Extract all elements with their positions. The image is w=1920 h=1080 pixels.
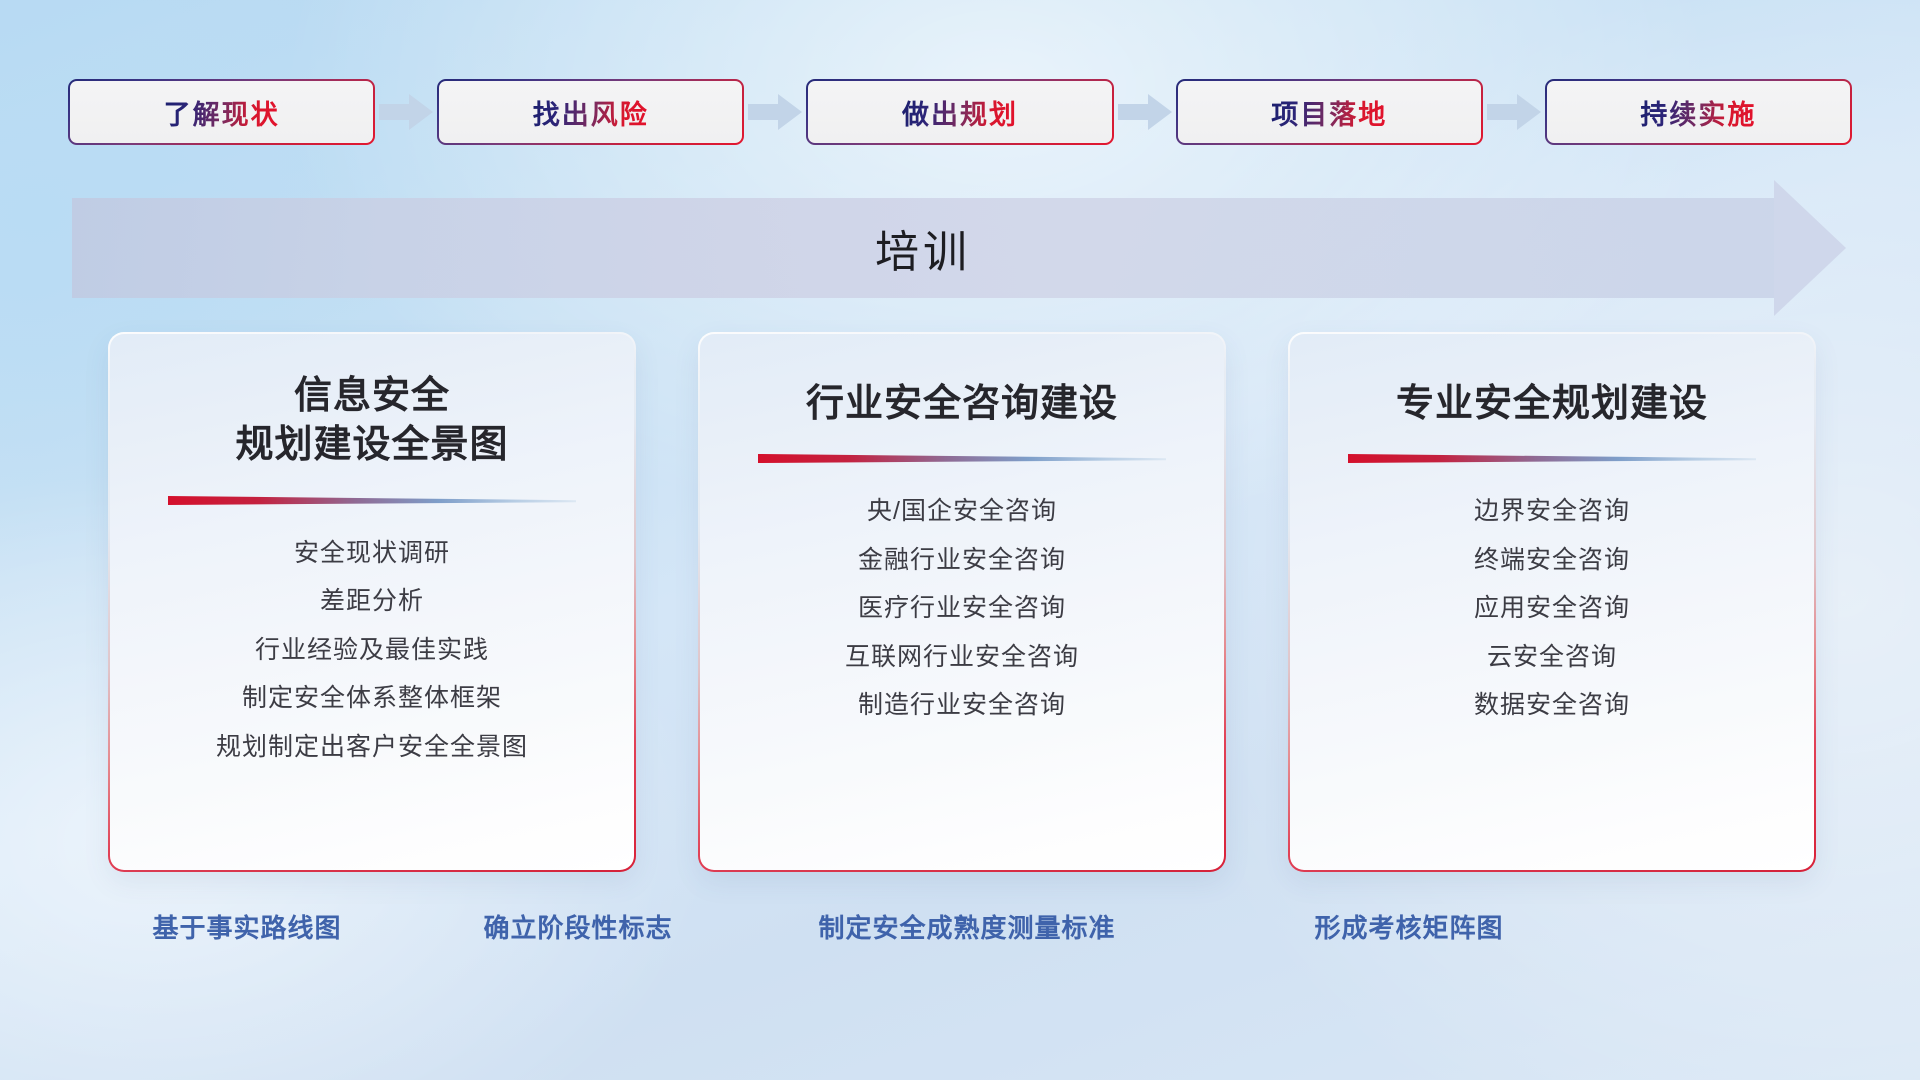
card-title-line: 信息安全 [235, 372, 508, 421]
list-item: 安全现状调研 [294, 535, 450, 573]
step-label: 了解现状 [164, 93, 280, 132]
list-item: 差距分析 [320, 583, 424, 621]
card-list: 边界安全咨询 终端安全咨询 应用安全咨询 云安全咨询 数据安全咨询 [1290, 493, 1814, 725]
right-arrow-icon [375, 90, 437, 134]
card-title-line: 规划建设全景图 [235, 421, 508, 470]
list-item: 云安全咨询 [1487, 639, 1617, 677]
step-label: 做出规划 [902, 93, 1018, 132]
card-frame: 专业安全规划建设 [1288, 332, 1816, 872]
training-banner: 培训 [72, 198, 1844, 298]
card-title: 专业安全规划建设 [1378, 380, 1726, 429]
step-box-3[interactable]: 做出规划 [806, 79, 1113, 145]
gradient-divider-icon [1348, 451, 1757, 467]
gradient-divider-icon [758, 451, 1167, 467]
card-title-line: 专业安全规划建设 [1396, 380, 1708, 429]
footer-label: 形成考核矩阵图 [1314, 908, 1503, 945]
card-3[interactable]: 专业安全规划建设 [1288, 332, 1816, 872]
card-list: 央/国企安全咨询 金融行业安全咨询 医疗行业安全咨询 互联网行业安全咨询 制造行… [700, 493, 1224, 725]
card-1[interactable]: 信息安全 规划建设全景图 [108, 332, 636, 872]
card-body: 信息安全 规划建设全景图 [110, 334, 634, 870]
list-item: 行业经验及最佳实践 [255, 632, 489, 670]
right-arrow-icon [1114, 90, 1176, 134]
right-arrow-banner-icon [1774, 180, 1846, 316]
card-title: 行业安全咨询建设 [788, 380, 1136, 429]
card-frame: 行业安全咨询建设 [698, 332, 1226, 872]
list-item: 央/国企安全咨询 [867, 493, 1057, 531]
step-box-5[interactable]: 持续实施 [1545, 79, 1852, 145]
list-item: 规划制定出客户安全全景图 [216, 729, 528, 767]
step-box-4[interactable]: 项目落地 [1176, 79, 1483, 145]
slide-canvas: 了解现状 找出风险 做出规划 项目落地 [0, 0, 1920, 1080]
footer-label: 确立阶段性标志 [483, 908, 672, 945]
right-arrow-icon [1483, 90, 1545, 134]
list-item: 互联网行业安全咨询 [845, 639, 1079, 677]
step-label: 找出风险 [533, 93, 649, 132]
card-frame: 信息安全 规划建设全景图 [108, 332, 636, 872]
step-box-1[interactable]: 了解现状 [68, 79, 375, 145]
list-item: 医疗行业安全咨询 [858, 590, 1066, 628]
banner-title: 培训 [72, 198, 1774, 298]
step-box-2[interactable]: 找出风险 [437, 79, 744, 145]
process-step-row: 了解现状 找出风险 做出规划 项目落地 [68, 78, 1852, 146]
list-item: 金融行业安全咨询 [858, 542, 1066, 580]
list-item: 数据安全咨询 [1474, 687, 1630, 725]
card-body: 专业安全规划建设 [1290, 334, 1814, 870]
card-list: 安全现状调研 差距分析 行业经验及最佳实践 制定安全体系整体框架 规划制定出客户… [110, 535, 634, 767]
list-item: 边界安全咨询 [1474, 493, 1630, 531]
footer-label: 制定安全成熟度测量标准 [818, 908, 1115, 945]
list-item: 制造行业安全咨询 [858, 687, 1066, 725]
right-arrow-icon [744, 90, 806, 134]
list-item: 终端安全咨询 [1474, 542, 1630, 580]
gradient-divider-icon [168, 493, 577, 509]
card-title-line: 行业安全咨询建设 [806, 380, 1118, 429]
card-body: 行业安全咨询建设 [700, 334, 1224, 870]
list-item: 制定安全体系整体框架 [242, 680, 502, 718]
list-item: 应用安全咨询 [1474, 590, 1630, 628]
step-label: 项目落地 [1271, 93, 1387, 132]
footer-label-row: 基于事实路线图 确立阶段性标志 制定安全成熟度测量标准 形成考核矩阵图 [0, 908, 1920, 956]
step-label: 持续实施 [1640, 93, 1756, 132]
card-title: 信息安全 规划建设全景图 [217, 372, 526, 471]
card-2[interactable]: 行业安全咨询建设 [698, 332, 1226, 872]
footer-label: 基于事实路线图 [152, 908, 341, 945]
card-row: 信息安全 规划建设全景图 [108, 332, 1816, 872]
